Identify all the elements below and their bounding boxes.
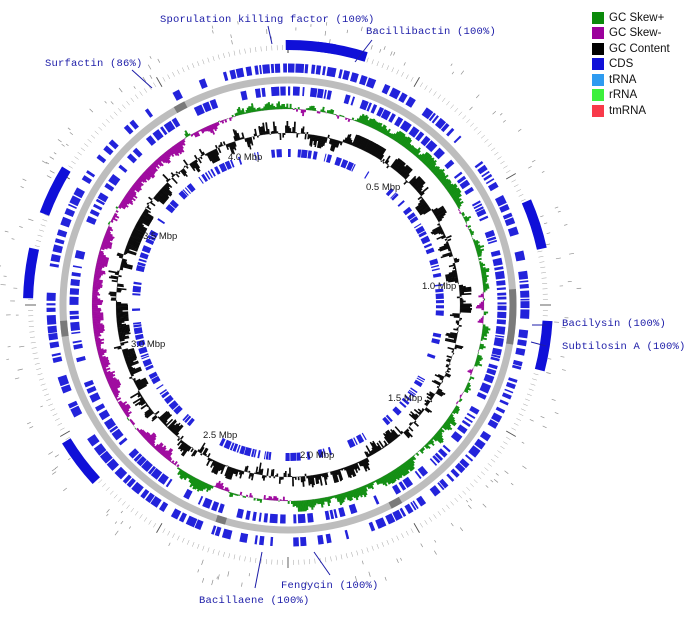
outer-tick-mark [42,219,47,221]
cds-forward-feature [350,72,359,82]
outer-tick-mark [250,557,251,562]
cds-forward-feature [499,399,508,405]
outer-tick-mark [474,127,478,130]
outer-tick-mark [506,437,510,440]
outer-tick-mark [491,459,495,462]
cds-forward-feature [129,120,138,130]
gc-skew-segment [283,104,285,109]
stray-feature-tick [541,416,545,418]
stray-feature-tick [483,504,486,507]
outer-tick-mark [331,556,332,561]
outer-tick-mark [488,463,492,466]
outer-tick-mark [177,70,179,75]
outer-tick-mark [157,77,163,87]
legend-item-gc-skew: GC Skew- [592,26,692,42]
stray-feature-tick [555,412,559,413]
gc-skew-segment [116,210,119,213]
cds-reverse-feature [86,386,96,394]
outer-tick-mark [234,51,235,56]
outer-tick-mark [239,555,240,560]
outer-tick-mark [202,546,204,551]
cds-forward-feature [515,251,526,262]
cds-reverse-feature [70,297,79,305]
stray-feature-tick [21,186,24,187]
outer-tick-mark [163,528,165,532]
outer-tick-mark [525,399,530,401]
cds-reverse-feature [325,511,330,521]
stray-feature-tick [148,65,151,70]
outer-tick-mark [527,394,532,396]
outer-tick-mark [397,536,399,541]
cds-inner-feature [429,258,438,265]
outer-tick-mark [50,409,55,411]
outer-tick-mark [531,384,536,386]
cds-inner-feature [268,452,271,460]
legend-item-rrna: rRNA [592,88,692,104]
cluster-label-bacillaene: Bacillaene (100%) [199,595,310,607]
stray-feature-tick [121,511,123,513]
stray-feature-tick [106,514,108,516]
stray-feature-tick [119,88,122,92]
stray-feature-tick [40,406,42,407]
outer-tick-mark [75,157,79,160]
cds-forward-feature [495,195,507,207]
cds-forward-feature [338,69,343,78]
cds-forward-feature [58,375,69,387]
outer-tick-mark [187,65,189,70]
cluster-arc-surfactin[interactable] [62,438,100,484]
outer-tick-mark [488,144,492,147]
outer-tick-mark [172,72,174,76]
cds-reverse-feature [70,316,79,320]
cds-reverse-feature [84,380,94,388]
outer-tick-mark [392,67,394,72]
cds-forward-feature [179,512,187,522]
cds-forward-feature [271,64,274,73]
cds-reverse-feature [280,87,286,96]
cluster-arc-bacillaene[interactable] [535,321,553,372]
cds-forward-feature [430,485,441,496]
cds-inner-feature [431,265,439,268]
stray-feature-tick [50,171,55,174]
gc-content-segment [162,174,169,182]
stray-feature-tick [552,399,556,400]
cds-reverse-feature [73,265,82,268]
cds-inner-feature [418,376,426,381]
outer-tick-mark [182,67,184,72]
outer-tick-mark [58,423,62,425]
cds-forward-feature [295,64,304,73]
outer-tick-mark [429,88,432,92]
cds-reverse-feature [310,88,318,98]
cds-reverse-feature [302,87,304,96]
outer-tick-mark [91,135,95,138]
cds-reverse-feature [307,513,314,523]
outer-tick-mark [367,548,369,553]
outer-tick-mark [32,348,37,349]
gc-skew-segment [283,497,285,501]
outer-tick-mark [192,63,194,68]
cds-reverse-feature [236,509,244,519]
outer-tick-mark [494,455,498,458]
stray-feature-tick [15,378,19,379]
cds-reverse-feature [485,230,495,238]
gc-content-segment [294,122,296,134]
legend: GC Skew+GC Skew-GC ContentCDStRNArRNAtmR… [592,10,692,119]
cds-forward-feature [519,280,528,283]
gc-skew-segment [278,101,280,109]
legend-item-label: tmRNA [609,105,646,117]
outer-tick-mark [177,536,179,541]
cds-reverse-feature [293,514,296,523]
outer-tick-mark [88,139,92,142]
cds-reverse-feature [127,154,137,164]
cds-reverse-feature [86,216,97,225]
outer-tick-mark [420,83,423,87]
legend-item-label: rRNA [609,89,637,101]
cds-forward-feature [159,502,168,512]
stray-feature-tick [486,485,488,487]
outer-tick-mark [245,556,246,561]
outer-tick-mark [261,46,262,51]
cds-reverse-feature [104,183,114,192]
cds-forward-feature [172,90,182,101]
stray-feature-tick [5,231,9,232]
cds-forward-feature [311,65,315,74]
stray-feature-tick [66,144,68,146]
cds-reverse-feature [75,250,86,260]
cds-reverse-feature [451,431,463,442]
cds-forward-feature [518,271,528,280]
cds-reverse-feature [480,382,492,393]
cds-forward-feature [87,434,99,446]
stray-feature-tick [518,129,521,131]
stray-feature-tick [561,356,565,357]
outer-tick-mark [98,127,102,130]
legend-item-gc-content: GC Content [592,41,692,57]
gc-content-segment [116,302,121,304]
cds-reverse-feature [433,148,445,160]
gc-skew-segment [291,501,293,504]
stray-feature-tick [546,244,550,245]
outer-tick-mark [484,139,488,142]
outer-tick-mark [102,483,106,486]
cds-reverse-feature [494,337,504,347]
cds-inner-feature [392,406,401,415]
gc-skew-segment [285,107,287,109]
outer-tick-mark [506,174,516,180]
outer-tick-mark [538,256,543,257]
outer-tick-mark [478,131,482,134]
cds-forward-feature [342,70,350,80]
gc-skew-segment [240,492,243,496]
outer-tick-mark [336,555,337,560]
cds-inner-feature [156,384,163,389]
gc-skew-segment [481,308,484,310]
stray-feature-tick [540,216,543,217]
legend-item-label: GC Skew+ [609,12,664,24]
cds-inner-feature [433,273,442,278]
cds-reverse-feature [71,272,80,277]
stray-feature-tick [52,468,56,471]
cds-forward-feature [508,226,519,236]
outer-tick-mark [534,374,539,375]
cds-forward-feature [288,64,295,73]
cds-forward-feature [236,68,245,78]
stray-feature-tick [63,488,66,491]
cds-reverse-feature [73,344,83,350]
cds-reverse-feature [496,280,505,286]
cds-reverse-feature [146,135,156,146]
outer-tick-mark [466,487,469,491]
stray-feature-tick [530,419,534,421]
gc-content-segment [305,474,307,477]
outer-tick-mark [463,491,466,495]
cds-reverse-feature [93,204,102,211]
legend-swatch-icon [592,89,604,101]
axis-tick-label: 0.5 Mbp [366,182,400,193]
stray-feature-tick [546,372,550,373]
cds-forward-feature [254,535,257,544]
outer-tick-mark [511,180,515,182]
legend-swatch-icon [592,74,604,86]
stray-feature-tick [511,483,513,485]
gc-skew-segment [288,501,290,504]
outer-tick-mark [223,53,224,58]
gc-content-segment [288,474,290,477]
cds-forward-feature [520,301,529,308]
gc-content-segment [296,133,298,137]
cds-inner-feature [132,293,140,296]
outer-tick-mark [223,552,224,557]
stray-feature-tick [28,219,33,221]
cds-forward-feature [47,326,57,334]
outer-tick-mark [521,409,526,411]
cluster-arc-fengycin[interactable] [522,199,547,249]
outer-tick-mark [229,553,230,558]
cds-forward-feature [504,389,513,394]
gc-content-segment [118,275,121,277]
outer-tick-mark [122,105,125,109]
cds-reverse-feature [252,512,257,521]
cluster-arc-bacillibactin[interactable] [40,167,71,216]
cds-reverse-feature [454,172,463,179]
gc-content-segment [286,121,288,133]
outer-tick-mark [351,552,352,557]
axis-tick-label: 3.0 Mbp [131,339,165,350]
cds-inner-feature [285,453,289,461]
outer-tick-mark [245,49,246,54]
cds-reverse-feature [493,258,503,266]
stray-feature-tick [361,27,362,31]
axis-tick-label: 4.0 Mbp [228,152,262,163]
legend-item-label: GC Content [609,43,670,55]
cds-forward-feature [322,66,326,75]
outer-tick-mark [542,278,547,279]
gc-content-segment [120,341,128,344]
stray-feature-tick [55,455,59,457]
gc-content-segment [266,468,269,476]
stray-feature-tick [58,139,62,142]
gc-skew-segment [484,313,486,315]
cds-forward-feature [52,356,62,363]
cds-reverse-feature [202,498,212,509]
stray-feature-tick [451,64,452,66]
outer-tick-mark [239,50,240,55]
cds-forward-feature [145,108,153,117]
outer-tick-mark [31,342,36,343]
stray-feature-tick [371,45,372,49]
cds-forward-feature [254,65,258,74]
cds-reverse-feature [70,322,80,331]
gc-skew-segment [296,109,298,112]
cds-inner-feature [288,149,291,157]
stray-feature-tick [468,505,471,509]
outer-tick-mark [532,379,537,380]
cds-inner-feature [133,322,141,325]
cds-forward-feature [239,533,248,543]
outer-tick-mark [434,92,437,96]
cds-forward-feature [465,454,473,461]
stray-feature-tick [217,577,218,579]
outer-tick-mark [500,446,504,449]
gc-content-segment [292,477,294,486]
stray-feature-tick [241,583,242,587]
cds-inner-feature [426,248,435,255]
outer-tick-mark [118,108,121,112]
stray-feature-tick [522,466,526,469]
outer-tick-mark [255,558,256,563]
axis-tick-label: 2.5 Mbp [203,430,237,441]
outer-tick-mark [229,52,230,57]
outer-tick-mark [387,540,389,545]
cds-forward-feature [52,353,61,357]
cds-forward-feature [326,534,332,544]
cds-inner-feature [364,171,369,178]
cds-forward-feature [382,84,391,95]
stray-feature-tick [491,480,493,482]
stray-feature-tick [129,526,131,528]
cds-inner-feature [133,282,141,285]
outer-tick-mark [163,77,165,81]
cds-reverse-feature [218,503,225,513]
outer-tick-mark [506,431,516,437]
cds-forward-feature [300,537,306,546]
cluster-arc-subtilosin-a[interactable] [317,42,368,62]
cds-reverse-feature [495,335,504,338]
outer-tick-mark [377,61,379,66]
outer-tick-mark [420,523,423,527]
cds-inner-feature [326,154,332,163]
cds-reverse-feature [457,424,467,434]
stray-feature-tick [400,558,401,561]
outer-tick-mark [182,538,184,543]
stray-feature-tick [496,473,499,475]
outer-tick-mark [451,501,454,505]
gc-skew-segment [304,110,306,113]
cds-reverse-feature [89,392,100,402]
stray-feature-tick [451,523,453,526]
stray-feature-tick [542,171,544,172]
cds-reverse-feature [194,104,205,116]
cds-forward-feature [109,139,119,149]
cds-forward-feature [259,65,262,74]
outer-tick-mark [39,379,44,380]
stray-feature-tick [470,107,473,110]
cds-inner-feature [139,259,147,263]
legend-item-tmrna: tmRNA [592,103,692,119]
cds-reverse-feature [477,392,487,400]
cds-inner-feature [436,293,444,299]
stray-feature-tick [493,111,496,114]
outer-tick-mark [470,123,474,126]
cds-reverse-feature [330,510,335,519]
stray-feature-tick [461,71,464,75]
outer-tick-mark [102,123,106,126]
cds-inner-feature [424,243,432,248]
cds-reverse-feature [338,507,345,517]
cds-reverse-feature [497,302,506,304]
stray-feature-tick [121,521,123,524]
cds-forward-feature [171,508,181,519]
stray-feature-tick [218,574,219,579]
cds-forward-feature [53,244,63,253]
outer-tick-mark [494,152,498,155]
cds-inner-feature [264,451,266,459]
stray-feature-tick [380,49,381,52]
cds-forward-feature [283,64,287,73]
cds-reverse-feature [261,88,265,97]
outer-tick-mark [68,166,72,169]
cds-reverse-feature [469,406,479,415]
stray-feature-tick [434,540,435,542]
stray-feature-tick [202,578,203,583]
cds-reverse-feature [344,94,351,104]
stray-feature-tick [150,75,152,79]
outer-tick-mark [411,528,413,532]
cluster-label-bacillibactin: Bacillibactin (100%) [366,26,496,38]
stray-feature-tick [18,369,23,370]
outer-tick-mark [41,225,46,227]
legend-swatch-icon [592,27,604,39]
stray-feature-tick [393,52,394,55]
gc-content-segment [457,296,460,298]
stray-feature-tick [503,120,506,122]
cds-inner-feature [403,207,412,215]
gc-content-segment [111,297,116,299]
outer-tick-mark [511,428,515,430]
stray-feature-tick [547,233,551,234]
cds-forward-feature [115,467,128,480]
stray-feature-tick [212,30,213,33]
gc-content-segment [279,133,281,140]
axis-tick-label: 1.0 Mbp [422,281,456,292]
cds-reverse-feature [497,306,506,311]
outer-tick-mark [541,272,546,273]
cluster-arc-sporulation-killing-factor[interactable] [23,248,39,299]
cds-inner-feature [324,154,327,162]
cds-forward-feature [305,64,309,73]
outer-tick-mark [60,431,70,437]
cds-reverse-feature [119,437,128,445]
outer-tick-mark [484,468,488,471]
cds-forward-feature [55,238,65,244]
stray-feature-tick [528,166,531,168]
cds-forward-feature [446,474,454,482]
cds-reverse-feature [70,311,79,315]
stray-feature-tick [29,426,33,428]
cds-reverse-feature [280,514,286,523]
